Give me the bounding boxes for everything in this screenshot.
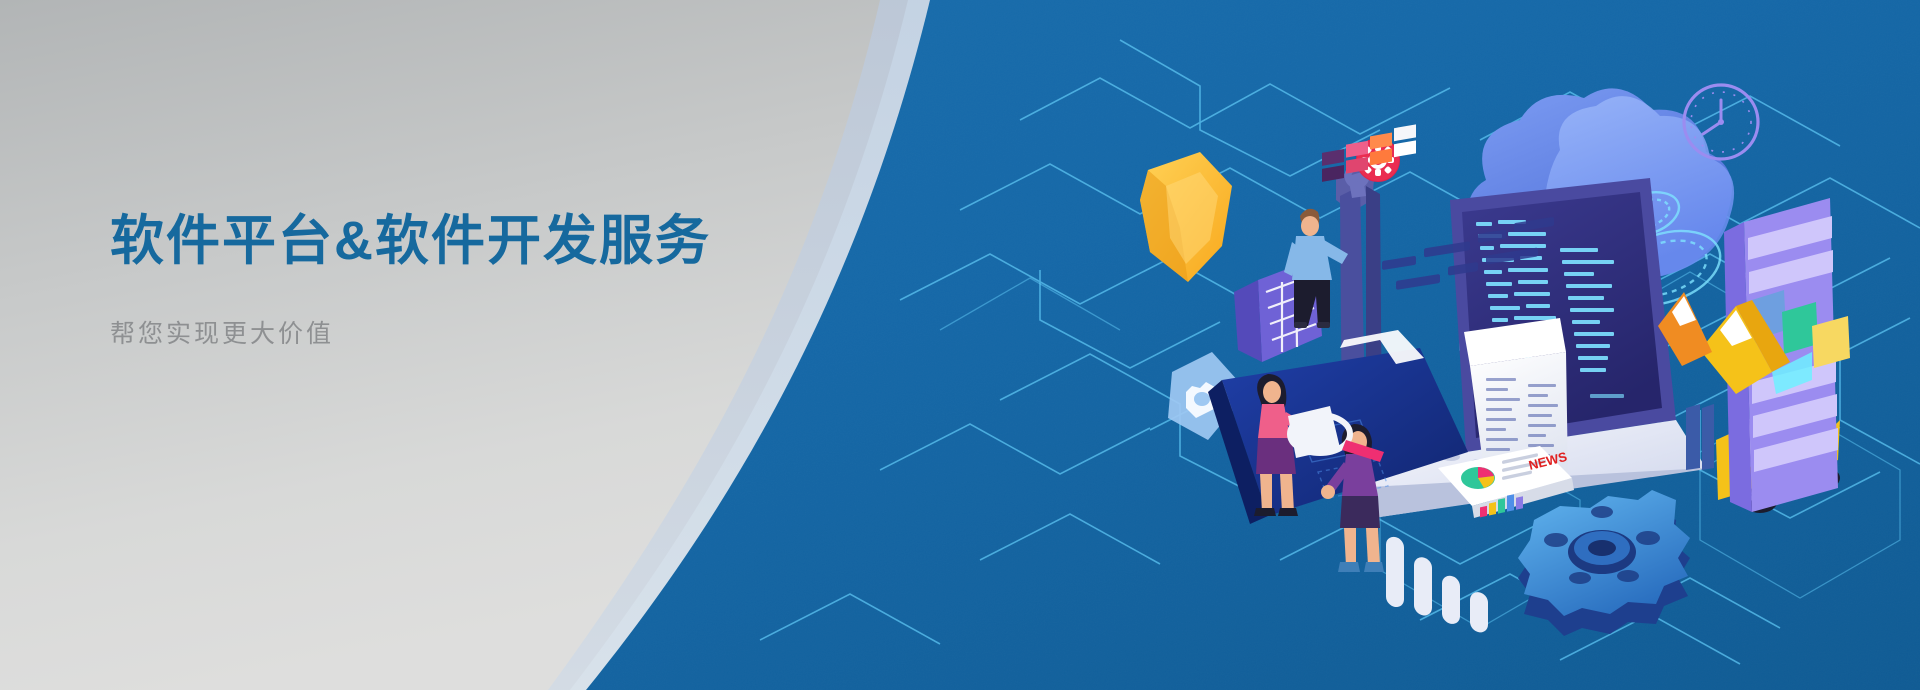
hero-banner: NEWS [0, 0, 1920, 690]
page-subtitle: 帮您实现更大价值 [110, 314, 810, 350]
banner-copy: 软件平台&软件开发服务 帮您实现更大价值 [110, 210, 810, 350]
page-title: 软件平台&软件开发服务 [110, 210, 810, 272]
